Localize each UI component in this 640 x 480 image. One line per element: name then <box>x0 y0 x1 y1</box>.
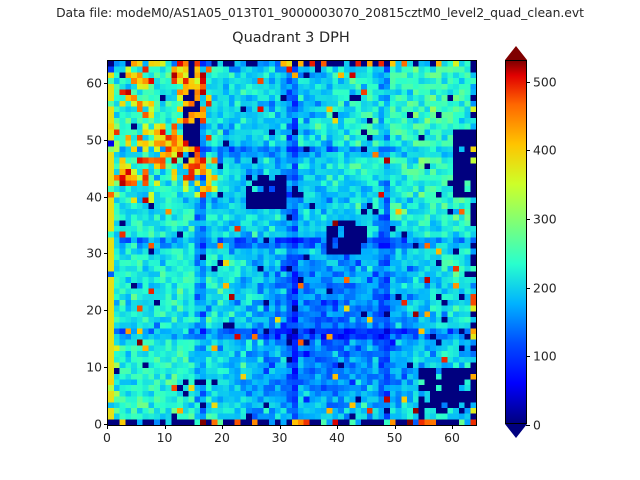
x-tick-label: 40 <box>329 430 345 445</box>
x-tick-mark <box>337 425 338 429</box>
x-tick-label: 50 <box>387 430 403 445</box>
x-tick-label: 30 <box>272 430 288 445</box>
x-tick-label: 20 <box>214 430 230 445</box>
x-tick-label: 60 <box>444 430 460 445</box>
colorbar-tick-label: 500 <box>533 74 557 89</box>
colorbar-tick-mark <box>526 356 530 357</box>
y-tick-mark <box>104 310 108 311</box>
colorbar-tick-mark <box>526 219 530 220</box>
y-tick-mark <box>104 197 108 198</box>
colorbar-tick-label: 0 <box>533 418 541 433</box>
y-tick-mark <box>104 253 108 254</box>
page-title: Quadrant 3 DPH <box>107 30 475 46</box>
x-tick-mark <box>107 425 108 429</box>
colorbar-tick-label: 300 <box>533 211 557 226</box>
y-tick-label: 0 <box>94 417 102 432</box>
colorbar-extend-max-arrow-icon <box>505 46 527 60</box>
y-tick-label: 50 <box>86 132 102 147</box>
colorbar-tick-label: 100 <box>533 349 557 364</box>
colorbar-tick-label: 400 <box>533 143 557 158</box>
y-tick-label: 30 <box>86 246 102 261</box>
heatmap-axes[interactable] <box>107 60 477 426</box>
y-tick-mark <box>104 367 108 368</box>
figure-canvas: Data file: modeM0/AS1A05_013T01_90000030… <box>0 0 640 480</box>
colorbar-extend-min-arrow-icon <box>505 424 527 438</box>
y-tick-label: 10 <box>86 360 102 375</box>
y-tick-label: 60 <box>86 75 102 90</box>
y-tick-label: 20 <box>86 303 102 318</box>
colorbar-tick-label: 200 <box>533 280 557 295</box>
x-tick-mark <box>222 425 223 429</box>
data-file-suptitle: Data file: modeM0/AS1A05_013T01_90000030… <box>0 5 640 20</box>
detector-pixel-heatmap[interactable] <box>108 61 476 425</box>
x-tick-mark <box>395 425 396 429</box>
y-tick-mark <box>104 83 108 84</box>
y-tick-label: 40 <box>86 189 102 204</box>
colorbar-tick-mark <box>526 150 530 151</box>
x-tick-label: 10 <box>157 430 173 445</box>
x-tick-mark <box>165 425 166 429</box>
colorbar-tick-mark <box>526 82 530 83</box>
x-tick-mark <box>280 425 281 429</box>
colorbar[interactable]: 0100200300400500 <box>505 60 527 424</box>
colorbar-tick-mark <box>526 288 530 289</box>
y-tick-mark <box>104 140 108 141</box>
x-tick-mark <box>452 425 453 429</box>
x-tick-label: 0 <box>103 430 111 445</box>
colorbar-gradient[interactable]: 0100200300400500 <box>505 60 527 424</box>
